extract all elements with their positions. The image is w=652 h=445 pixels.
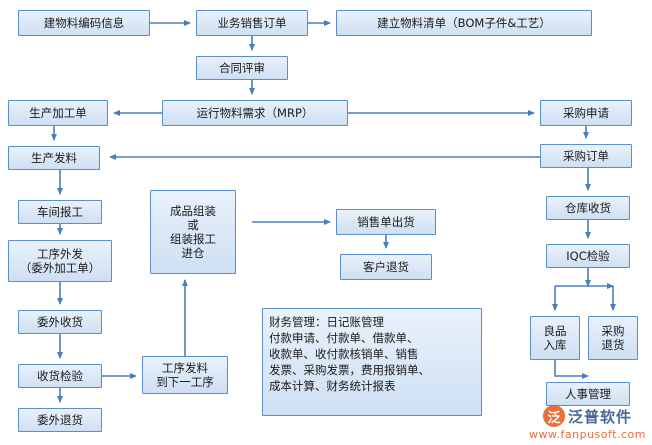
node-purchase-return[interactable]: 采购 退货 — [588, 316, 638, 360]
node-run-mrp[interactable]: 运行物料需求（MRP） — [162, 100, 348, 126]
node-finance-management-note[interactable]: 财务管理：日记账管理 付款申请、付款单、借款单、 收款单、收付款核销单、销售 发… — [262, 308, 482, 416]
node-process-issue-next[interactable]: 工序发料 到下一工序 — [142, 356, 228, 394]
node-hr-management[interactable]: 人事管理 — [546, 382, 630, 406]
node-purchase-request[interactable]: 采购申请 — [540, 100, 632, 126]
node-receipt-inspection[interactable]: 收货检验 — [18, 364, 102, 388]
watermark: 泛 泛普软件 www.fanpusoft.com — [529, 405, 646, 441]
node-finished-assembly[interactable]: 成品组装 或 组装报工 进仓 — [150, 190, 236, 274]
node-customer-return[interactable]: 客户退货 — [340, 254, 432, 280]
node-iqc-inspection[interactable]: IQC检验 — [546, 244, 630, 268]
node-production-issue[interactable]: 生产发料 — [8, 146, 100, 170]
node-outsourced-receipt[interactable]: 委外收货 — [18, 310, 102, 334]
node-sales-shipment[interactable]: 销售单出货 — [336, 209, 436, 235]
node-outsourced-return[interactable]: 委外退货 — [18, 408, 102, 432]
watermark-name: 泛普软件 — [568, 406, 632, 427]
node-production-work-order[interactable]: 生产加工单 — [8, 100, 108, 126]
node-contract-review[interactable]: 合同评审 — [196, 56, 288, 80]
watermark-url: www.fanpusoft.com — [529, 428, 646, 441]
node-purchase-order[interactable]: 采购订单 — [540, 144, 632, 168]
node-outsourced-process[interactable]: 工序外发 （委外加工单） — [8, 240, 112, 282]
watermark-logo-icon: 泛 — [543, 405, 565, 427]
node-good-stock-in[interactable]: 良品 入库 — [530, 316, 580, 360]
flowchart-canvas: 建物料编码信息 业务销售订单 建立物料清单（BOM子件&工艺） 合同评审 生产加… — [0, 0, 652, 445]
node-warehouse-receipt[interactable]: 仓库收货 — [546, 196, 630, 220]
node-workshop-report[interactable]: 车间报工 — [18, 200, 102, 224]
node-build-material-code[interactable]: 建物料编码信息 — [18, 10, 150, 36]
node-create-bom[interactable]: 建立物料清单（BOM子件&工艺） — [336, 10, 592, 36]
node-sales-order[interactable]: 业务销售订单 — [196, 10, 308, 36]
